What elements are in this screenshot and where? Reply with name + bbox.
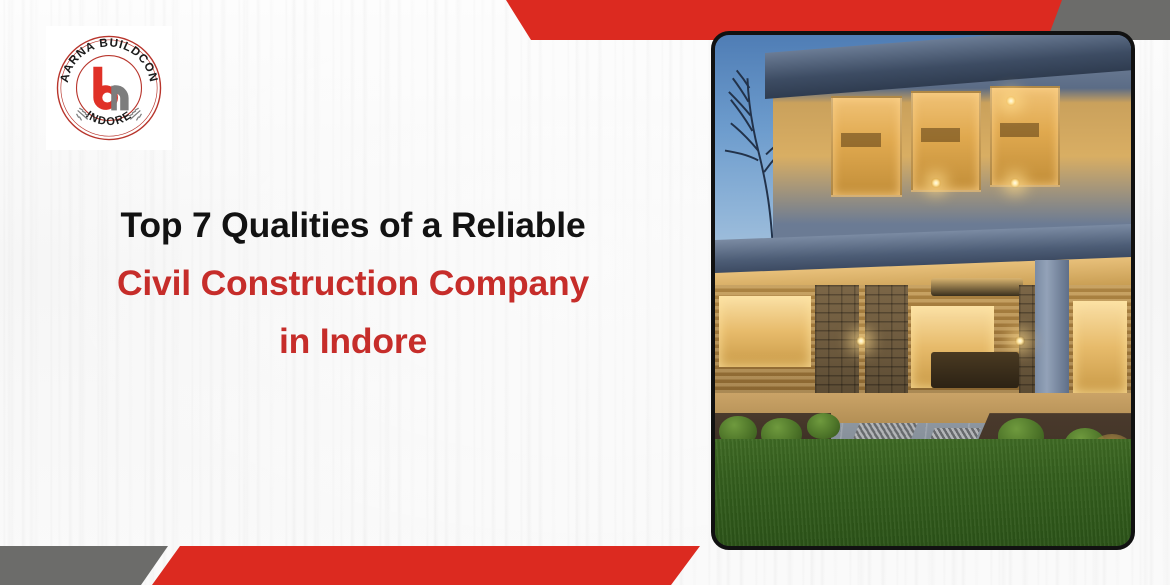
headline-line-3: in Indore bbox=[50, 312, 656, 370]
page-title: Top 7 Qualities of a Reliable Civil Cons… bbox=[50, 196, 656, 370]
blog-banner: AARNA BUILDCON INDORE Top 7 Qua bbox=[0, 0, 1170, 585]
hero-photo bbox=[715, 35, 1131, 546]
photo-stone-column-2 bbox=[865, 285, 909, 408]
photo-sconce-2 bbox=[1015, 336, 1025, 346]
aarna-buildcon-logo: AARNA BUILDCON INDORE bbox=[53, 32, 165, 144]
photo-lawn-texture bbox=[715, 439, 1131, 546]
logo-card[interactable]: AARNA BUILDCON INDORE bbox=[46, 26, 172, 150]
photo-upper-window-1 bbox=[831, 96, 902, 197]
photo-front-lawn bbox=[715, 439, 1131, 546]
photo-upper-window-2 bbox=[911, 91, 982, 192]
photo-side-door bbox=[1073, 301, 1127, 393]
headline-line-2: Civil Construction Company bbox=[50, 254, 656, 312]
photo-shrub-3 bbox=[807, 413, 840, 439]
photo-living-window bbox=[719, 296, 811, 368]
hero-photo-frame bbox=[711, 31, 1135, 550]
photo-patio-furniture bbox=[931, 352, 1018, 388]
headline-line-1: Top 7 Qualities of a Reliable bbox=[50, 196, 656, 254]
photo-stone-column-1 bbox=[815, 285, 859, 408]
photo-chandelier bbox=[931, 278, 1023, 296]
photo-porch-pillar bbox=[1035, 260, 1068, 413]
photo-upper-window-3 bbox=[990, 86, 1061, 187]
